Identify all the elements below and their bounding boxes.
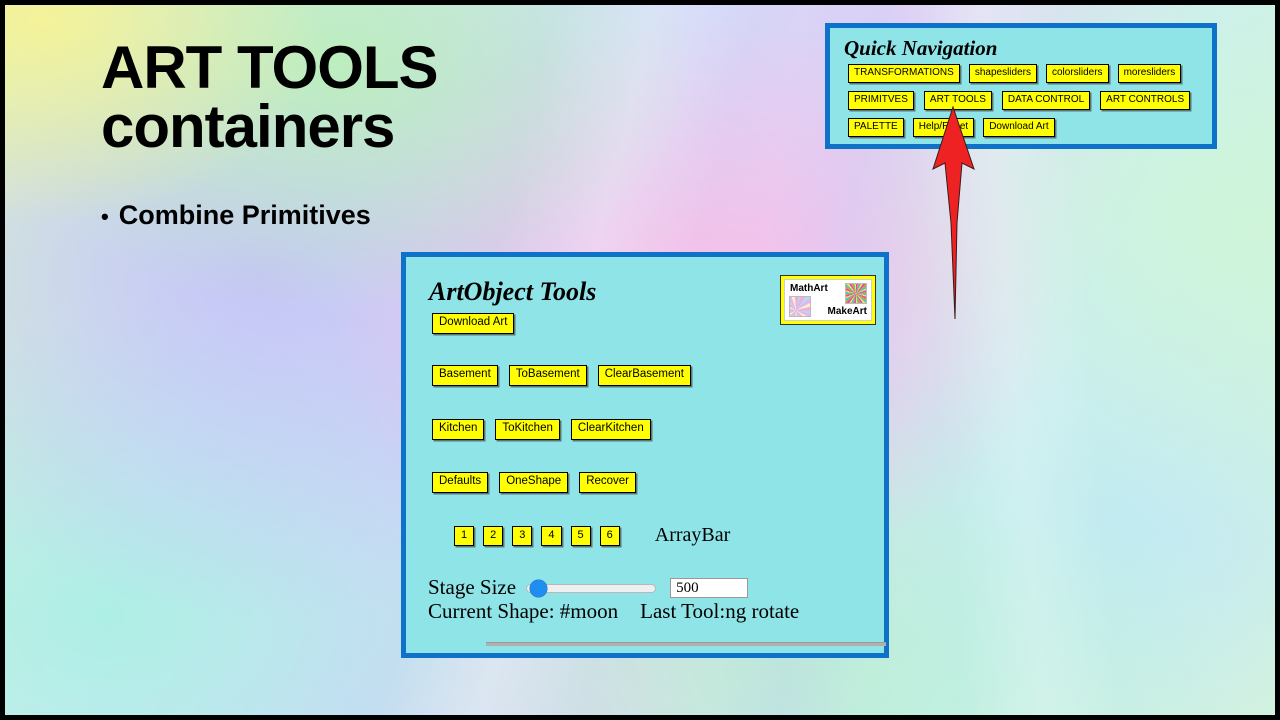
- recover-button[interactable]: Recover: [579, 472, 636, 493]
- quick-navigation-title: Quick Navigation: [844, 36, 997, 61]
- artobject-tools-panel: ArtObject Tools Download Art MathArt Mak…: [401, 252, 889, 658]
- tobasement-button[interactable]: ToBasement: [509, 365, 587, 386]
- quick-nav-row-2: PRIMITVES ART TOOLS DATA CONTROL ART CON…: [848, 91, 1190, 110]
- nav-button-transformations[interactable]: TRANSFORMATIONS: [848, 64, 960, 83]
- array-button-6[interactable]: 6: [600, 526, 620, 546]
- bullet-label: Combine Primitives: [119, 200, 371, 231]
- nav-button-shapesliders[interactable]: shapesliders: [969, 64, 1037, 83]
- bullet-point: • Combine Primitives: [101, 200, 371, 231]
- array-bar-label: ArrayBar: [655, 524, 731, 547]
- status-line: Current Shape: #moon Last Tool:ng rotate: [428, 599, 799, 624]
- defaults-button[interactable]: Defaults: [432, 472, 488, 493]
- quick-nav-row-1: TRANSFORMATIONS shapesliders colorslider…: [848, 64, 1181, 83]
- last-tool-status: Last Tool:ng rotate: [640, 599, 799, 624]
- array-button-4[interactable]: 4: [541, 526, 561, 546]
- starburst-thumbnail-icon: [845, 283, 867, 304]
- slider-thumb[interactable]: [530, 580, 547, 597]
- logo-bottom-label: MakeArt: [828, 306, 867, 317]
- clearbasement-button[interactable]: ClearBasement: [598, 365, 691, 386]
- stage-size-slider[interactable]: [526, 581, 656, 595]
- defaults-button-row: Defaults OneShape Recover: [432, 472, 636, 493]
- nav-button-data-control[interactable]: DATA CONTROL: [1002, 91, 1090, 110]
- stage-size-value-field[interactable]: 500: [670, 578, 748, 598]
- array-button-5[interactable]: 5: [571, 526, 591, 546]
- abstract-thumbnail-icon: [789, 296, 811, 317]
- slide-canvas: ART TOOLS containers • Combine Primitive…: [0, 0, 1280, 720]
- red-arrow-annotation: [929, 105, 977, 321]
- nav-button-art-controls[interactable]: ART CONTROLS: [1100, 91, 1190, 110]
- logo-top-label: MathArt: [790, 283, 828, 294]
- nav-button-palette[interactable]: PALETTE: [848, 118, 904, 137]
- download-art-button[interactable]: Download Art: [432, 313, 514, 334]
- array-bar-row: 1 2 3 4 5 6 ArrayBar: [454, 524, 730, 547]
- array-button-2[interactable]: 2: [483, 526, 503, 546]
- basement-button[interactable]: Basement: [432, 365, 498, 386]
- bullet-marker-icon: •: [101, 206, 109, 228]
- oneshape-button[interactable]: OneShape: [499, 472, 568, 493]
- nav-button-moresliders[interactable]: moresliders: [1118, 64, 1182, 83]
- nav-button-primitves[interactable]: PRIMITVES: [848, 91, 914, 110]
- artobject-tools-title: ArtObject Tools: [429, 277, 596, 307]
- page-title: ART TOOLS containers: [101, 39, 741, 157]
- stage-size-label: Stage Size: [428, 575, 516, 600]
- panel-divider: [486, 642, 886, 646]
- kitchen-button[interactable]: Kitchen: [432, 419, 484, 440]
- array-button-3[interactable]: 3: [512, 526, 532, 546]
- stage-size-control: Stage Size 500: [428, 575, 748, 600]
- array-button-1[interactable]: 1: [454, 526, 474, 546]
- nav-button-download-art[interactable]: Download Art: [983, 118, 1054, 137]
- tokitchen-button[interactable]: ToKitchen: [495, 419, 560, 440]
- clearkitchen-button[interactable]: ClearKitchen: [571, 419, 651, 440]
- quick-navigation-panel: Quick Navigation TRANSFORMATIONS shapesl…: [825, 23, 1217, 149]
- logo-inner-frame: MathArt MakeArt: [784, 279, 872, 321]
- kitchen-button-row: Kitchen ToKitchen ClearKitchen: [432, 419, 651, 440]
- nav-button-colorsliders[interactable]: colorsliders: [1046, 64, 1109, 83]
- current-shape-status: Current Shape: #moon: [428, 599, 618, 624]
- basement-button-row: Basement ToBasement ClearBasement: [432, 365, 691, 386]
- mathart-makeart-logo: MathArt MakeArt: [780, 275, 876, 325]
